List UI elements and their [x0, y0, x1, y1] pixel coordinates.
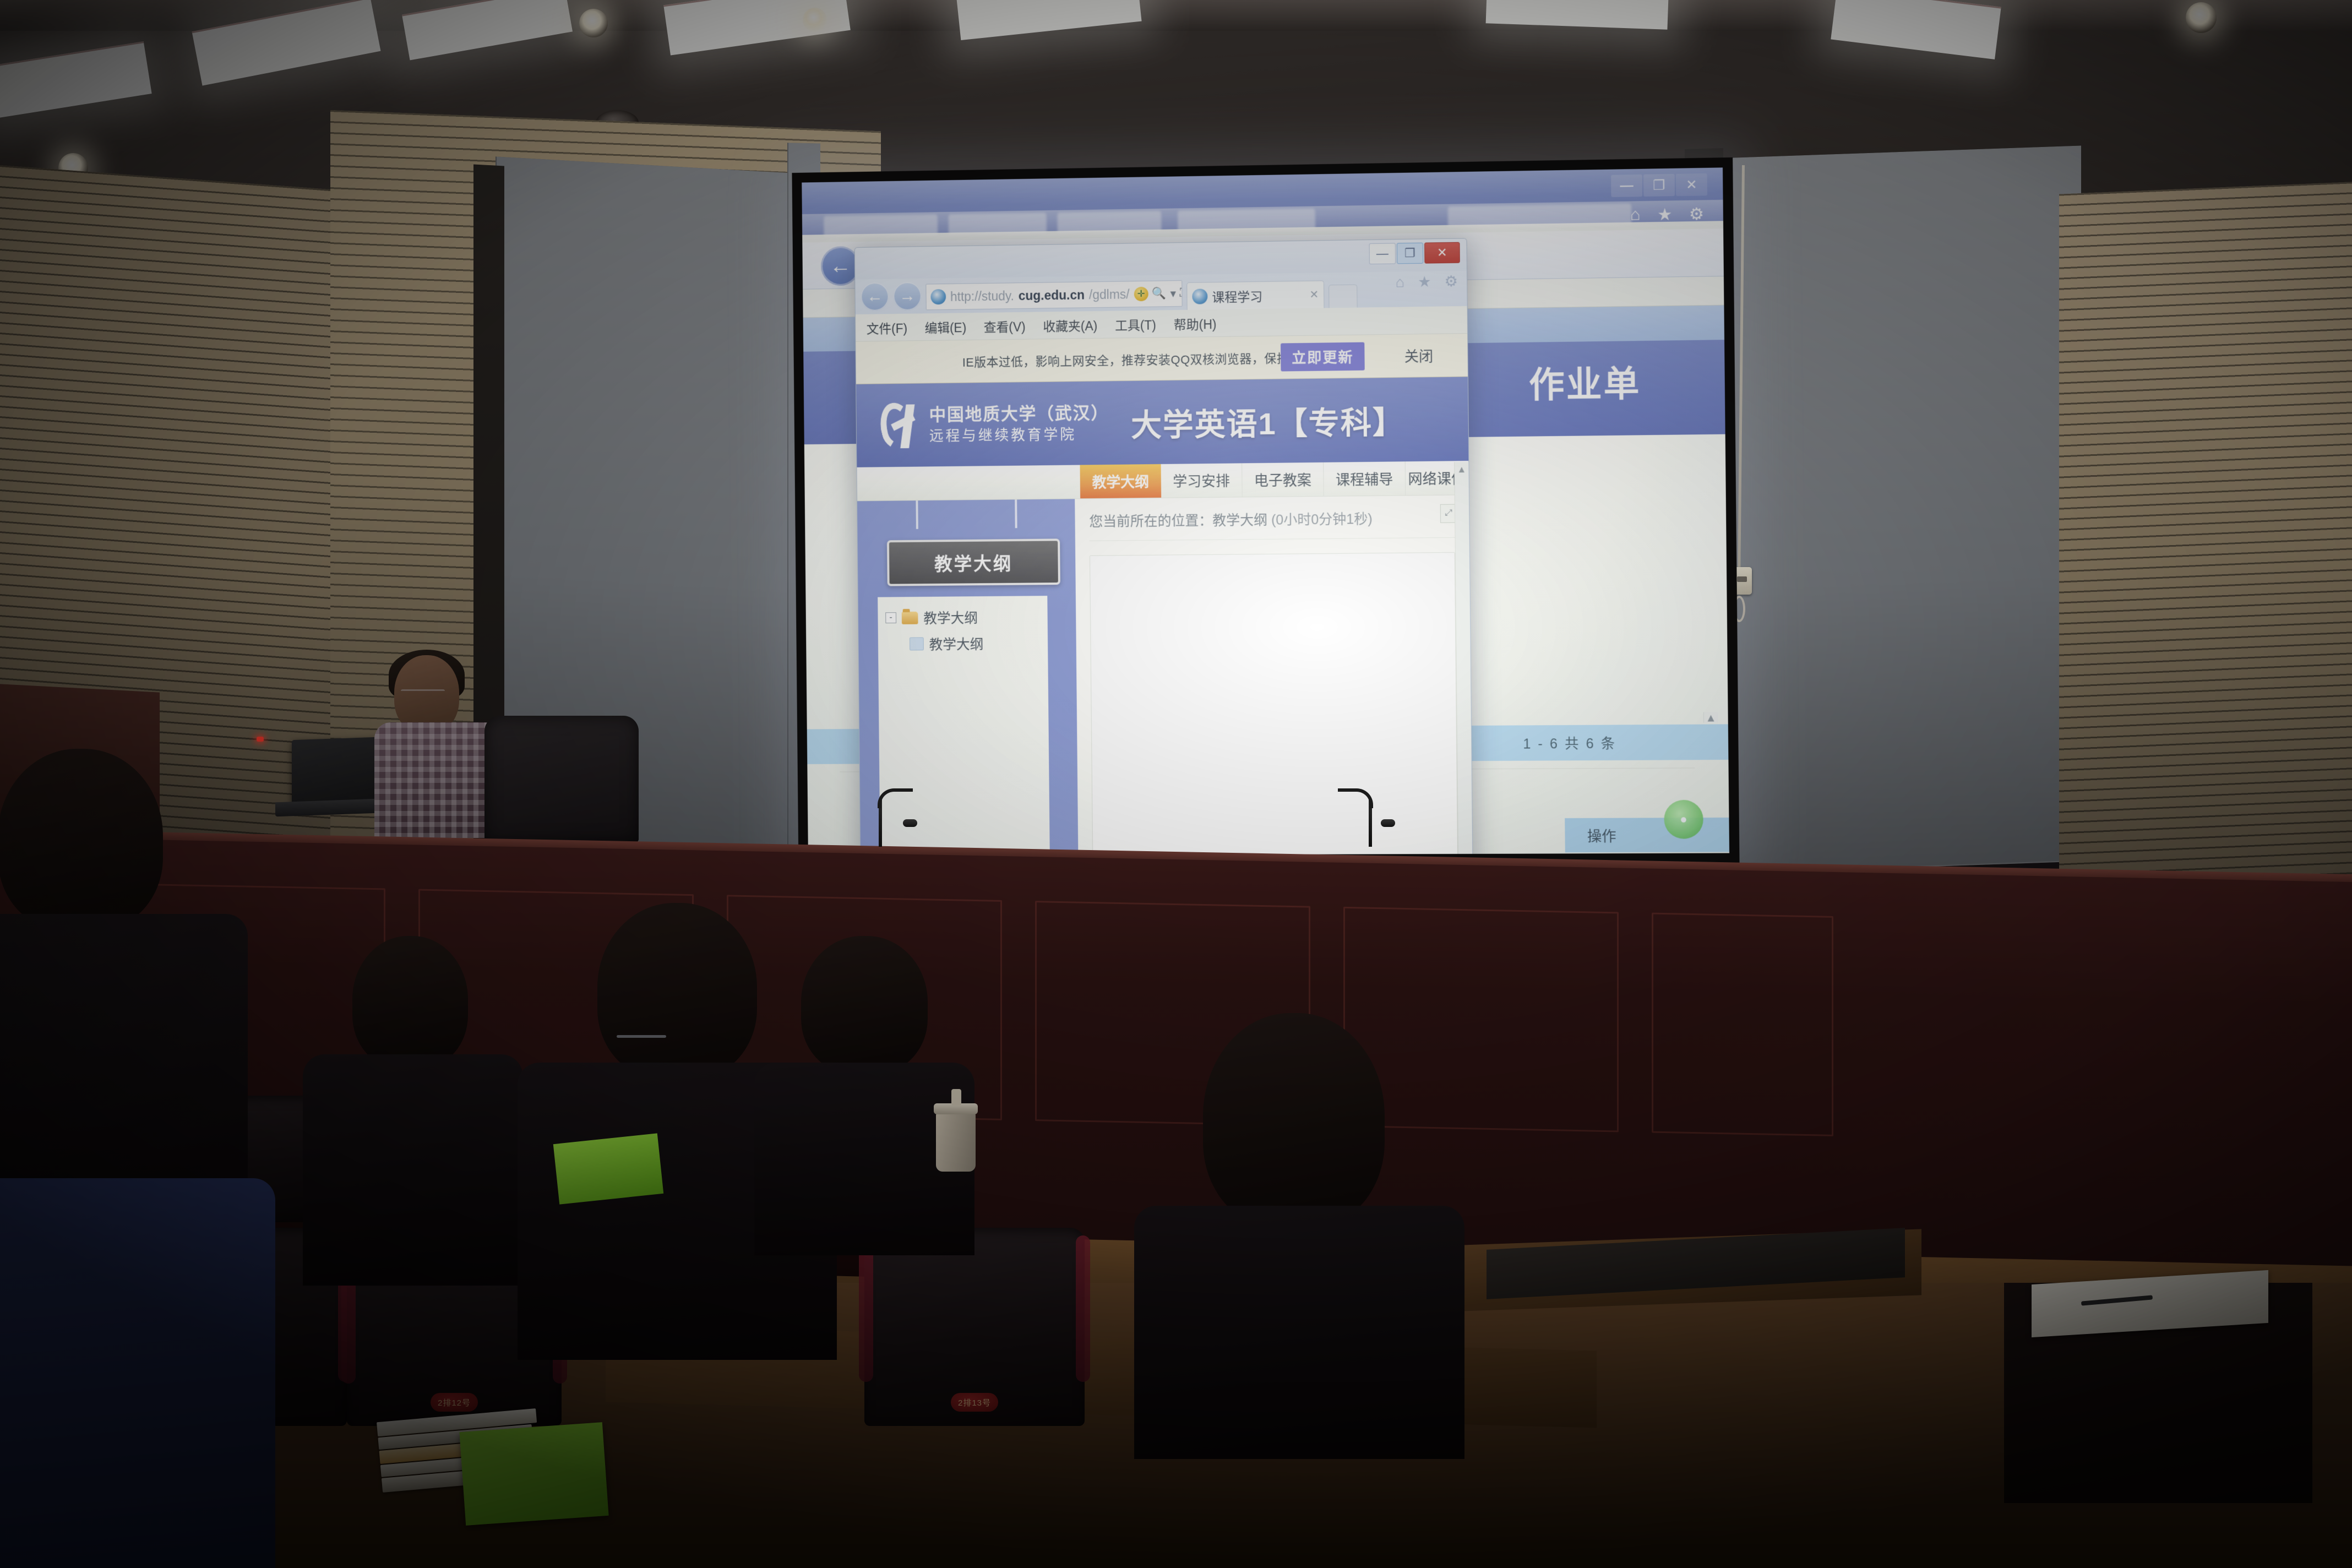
scroll-down-icon[interactable]: ▼ — [1461, 851, 1470, 856]
ceiling-downlight — [803, 8, 827, 32]
url-domain: cug.edu.cn — [1019, 287, 1085, 303]
student-head — [352, 936, 468, 1068]
ie-logo-icon — [1192, 288, 1207, 304]
tab-course-tutoring[interactable]: 课程辅导 — [1324, 461, 1406, 496]
ceiling-downlight — [579, 9, 608, 37]
seat-number-badge: 2排13号 — [951, 1393, 998, 1412]
background-tab-ghost[interactable] — [824, 214, 938, 237]
internet-explorer-window[interactable]: — ❐ ✕ ⌂ ★ ⚙ ← → http://study.cug. — [854, 238, 1473, 856]
background-course-table: 操作 后 进入课程学习 答疑 后 进入课程学习 答疑 后 进入课程学习 答 — [1565, 817, 1729, 856]
background-minimize-icon[interactable]: — — [1611, 175, 1642, 197]
minimize-icon[interactable]: — — [1369, 243, 1396, 264]
student-head — [0, 749, 163, 930]
scroll-up-icon[interactable]: ▲ — [1704, 712, 1718, 725]
background-tab-ghost[interactable] — [1448, 203, 1632, 227]
site-banner: 中国地质大学（武汉） 远程与继续教育学院 大学英语1【专科】 — [856, 377, 1468, 467]
green-folder — [459, 1422, 608, 1526]
ie-window-controls[interactable]: — ❐ ✕ — [1369, 242, 1460, 265]
tree-node-document[interactable]: 教学大纲 — [878, 630, 1048, 657]
university-logo: 中国地质大学（武汉） 远程与继续教育学院 — [879, 398, 1109, 450]
maximize-icon[interactable]: ❐ — [1397, 243, 1424, 264]
gooseneck-microphone — [879, 799, 882, 847]
seat-number-badge: 2排12号 — [431, 1393, 478, 1412]
url-path: /gdlms/ — [1089, 287, 1130, 302]
student — [319, 936, 501, 1277]
forward-icon[interactable]: → — [893, 282, 922, 311]
background-window-controls[interactable]: — ❐ ✕ — [1611, 173, 1707, 197]
breadcrumb-current: 教学大纲 — [1212, 513, 1267, 529]
breadcrumb: 您当前所在的位置：教学大纲 (0小时0分钟1秒) — [1089, 508, 1455, 541]
presenter-torso — [374, 722, 501, 838]
menu-tools[interactable]: 工具(T) — [1115, 314, 1156, 334]
course-content-area: 您当前所在的位置：教学大纲 (0小时0分钟1秒) ⤢ — [1075, 495, 1473, 856]
auditorium-seat: 2排13号 — [864, 1228, 1085, 1426]
student-torso — [303, 1054, 523, 1286]
lecture-hall-room: — ❐ ✕ ⌂ ★ ⚙ ← 作业单 关闭 操作 — [0, 0, 2352, 1568]
tab-label: 课程学习 — [1212, 286, 1262, 305]
student-glasses — [617, 1035, 666, 1038]
background-tab-ghost[interactable] — [949, 213, 1047, 235]
background-close-icon[interactable]: ✕ — [1676, 173, 1707, 196]
gear-icon[interactable]: ⚙ — [1689, 204, 1705, 224]
ceiling-panel-light — [1831, 0, 2001, 59]
site-body: 教学大纲 - 教学大纲 教学大纲 — [857, 495, 1473, 856]
scroll-up-icon[interactable]: ▲ — [1457, 464, 1466, 475]
background-ie-tool-icons[interactable]: ⌂ ★ ⚙ — [1630, 204, 1704, 225]
presenter — [374, 655, 501, 837]
document-icon — [910, 637, 924, 650]
presenter-glasses — [401, 689, 445, 700]
qq-shield-icon[interactable]: ✛ — [1134, 287, 1148, 301]
green-folder — [553, 1133, 663, 1204]
menu-help[interactable]: 帮助(H) — [1174, 314, 1217, 333]
tab-study-schedule[interactable]: 学习安排 — [1161, 463, 1243, 497]
student-head — [1203, 1013, 1385, 1228]
ceiling-downlight — [2186, 2, 2217, 33]
menu-view[interactable]: 查看(V) — [984, 316, 1026, 335]
address-bar-actions[interactable]: ✛ 🔍 ▾ ⛶ ⟳ ✕ — [1134, 286, 1182, 301]
notification-close-link[interactable]: 关闭 — [1404, 345, 1434, 366]
search-icon[interactable]: 🔍 — [1152, 287, 1166, 300]
browser-upgrade-notification-bar: IE版本过低，影响上网安全，推荐安装QQ双核浏览器，保护上网安全 立即更新 关闭 — [856, 334, 1468, 384]
sidebar-tree[interactable]: - 教学大纲 教学大纲 — [878, 596, 1050, 856]
student-torso — [1134, 1206, 1464, 1459]
student-head — [801, 936, 928, 1074]
course-title: 大学英语1【专科】 — [1131, 397, 1405, 445]
gooseneck-microphone — [1369, 799, 1372, 847]
browser-tab-course-study[interactable]: 课程学习 ✕ — [1186, 280, 1324, 309]
address-input[interactable]: http://study.cug.edu.cn/gdlms/ ✛ 🔍 ▾ ⛶ ⟳… — [925, 280, 1182, 310]
back-icon[interactable]: ← — [861, 282, 889, 311]
tab-close-icon[interactable]: ✕ — [1309, 288, 1319, 302]
new-tab-button[interactable] — [1329, 285, 1358, 308]
ceiling-panel-light — [0, 41, 152, 119]
tree-node-folder[interactable]: - 教学大纲 — [878, 603, 1048, 631]
favorites-star-icon[interactable]: ★ — [1657, 205, 1673, 225]
university-name: 中国地质大学（武汉） — [929, 404, 1109, 424]
microphone-head — [1381, 819, 1395, 827]
student — [0, 749, 237, 1244]
background-table-header-operation: 操作 — [1565, 817, 1729, 852]
menu-favorites[interactable]: 收藏夹(A) — [1043, 315, 1097, 335]
background-vertical-scrollbar[interactable]: ▲ — [1703, 712, 1718, 722]
sign-hanger — [857, 499, 1075, 530]
breadcrumb-prefix: 您当前所在的位置： — [1089, 513, 1212, 530]
compat-view-icon[interactable]: ⛶ — [1180, 287, 1183, 300]
folder-icon — [902, 611, 918, 624]
background-tab-ghost[interactable] — [1057, 211, 1161, 233]
cug-emblem-icon — [879, 400, 922, 450]
tab-teaching-outline[interactable]: 教学大纲 — [1080, 464, 1162, 498]
sidebar-header-teaching-outline: 教学大纲 — [887, 538, 1060, 586]
menu-edit[interactable]: 编辑(E) — [924, 317, 966, 336]
green-status-widget[interactable]: ● — [1664, 800, 1703, 839]
ie-logo-icon — [930, 289, 946, 304]
microphone-head — [903, 819, 917, 827]
college-name: 远程与继续教育学院 — [929, 426, 1109, 444]
table-row[interactable]: 后 进入课程学习 答疑 — [1565, 852, 1729, 856]
projection-screen: — ❐ ✕ ⌂ ★ ⚙ ← 作业单 关闭 操作 — [802, 167, 1729, 856]
background-tab-ghost[interactable] — [1178, 208, 1315, 231]
url-scheme: http://study. — [950, 288, 1014, 304]
update-now-button[interactable]: 立即更新 — [1281, 342, 1365, 372]
breadcrumb-timer: (0小时0分钟1秒) — [1271, 511, 1373, 528]
pagination-range-label: 1 - 6 共 6 条 — [1523, 733, 1616, 753]
student-head — [597, 903, 757, 1079]
presenter-chair — [484, 716, 639, 842]
course-nav-tabs[interactable]: 教学大纲 学习安排 电子教案 课程辅导 网络课件 — [857, 461, 1468, 501]
student — [0, 1178, 275, 1568]
ceiling-panel-light — [956, 0, 1141, 40]
stage-panel-trim — [1652, 913, 1833, 1136]
background-banner-title: 作业单 — [1528, 355, 1641, 407]
tree-node-label: 教学大纲 — [923, 607, 978, 628]
laptop-led-indicator — [257, 737, 264, 742]
chevron-down-icon[interactable]: ▾ — [1170, 287, 1176, 301]
tree-collapse-icon[interactable]: - — [885, 612, 896, 623]
background-window-titlebar: — ❐ ✕ ⌂ ★ ⚙ — [802, 167, 1723, 235]
background-maximize-icon[interactable]: ❐ — [1643, 174, 1675, 197]
projection-screen-frame: — ❐ ✕ ⌂ ★ ⚙ ← 作业单 关闭 操作 — [792, 157, 1739, 865]
student — [771, 936, 958, 1244]
content-pane — [1090, 552, 1458, 856]
home-icon[interactable]: ⌂ — [1630, 205, 1641, 225]
tab-electronic-lesson-plan[interactable]: 电子教案 — [1242, 462, 1324, 497]
menu-file[interactable]: 文件(F) — [867, 318, 908, 337]
tree-node-label: 教学大纲 — [929, 634, 983, 654]
student — [1123, 1013, 1464, 1453]
close-icon[interactable]: ✕ — [1424, 242, 1460, 264]
student-torso — [0, 1178, 275, 1568]
paper-cup — [936, 1112, 976, 1172]
